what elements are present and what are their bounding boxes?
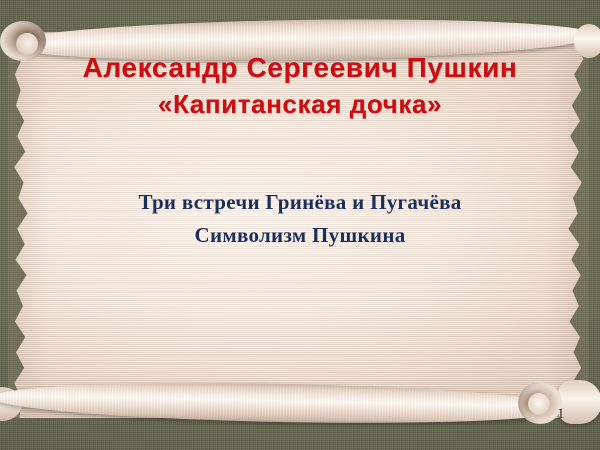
presentation-slide: Александр Сергеевич Пушкин «Капитанская … <box>0 0 600 450</box>
scroll-curl-left-icon <box>0 20 47 62</box>
scroll-curl-right-inner <box>527 392 550 415</box>
scroll-roll-bottom-icon <box>0 378 600 426</box>
parchment-scroll <box>0 18 600 428</box>
scroll-roll-top-right-end <box>574 24 600 58</box>
parchment-sheet <box>8 32 588 418</box>
scroll-roll-top-icon <box>0 18 600 64</box>
scroll-curl-left-inner <box>16 32 39 55</box>
scroll-roll-top-grain <box>4 15 597 64</box>
scroll-roll-bottom-grain <box>0 378 572 427</box>
scroll-curl-right-icon <box>517 381 563 425</box>
scroll-roll-bottom-right-stub <box>558 380 600 424</box>
